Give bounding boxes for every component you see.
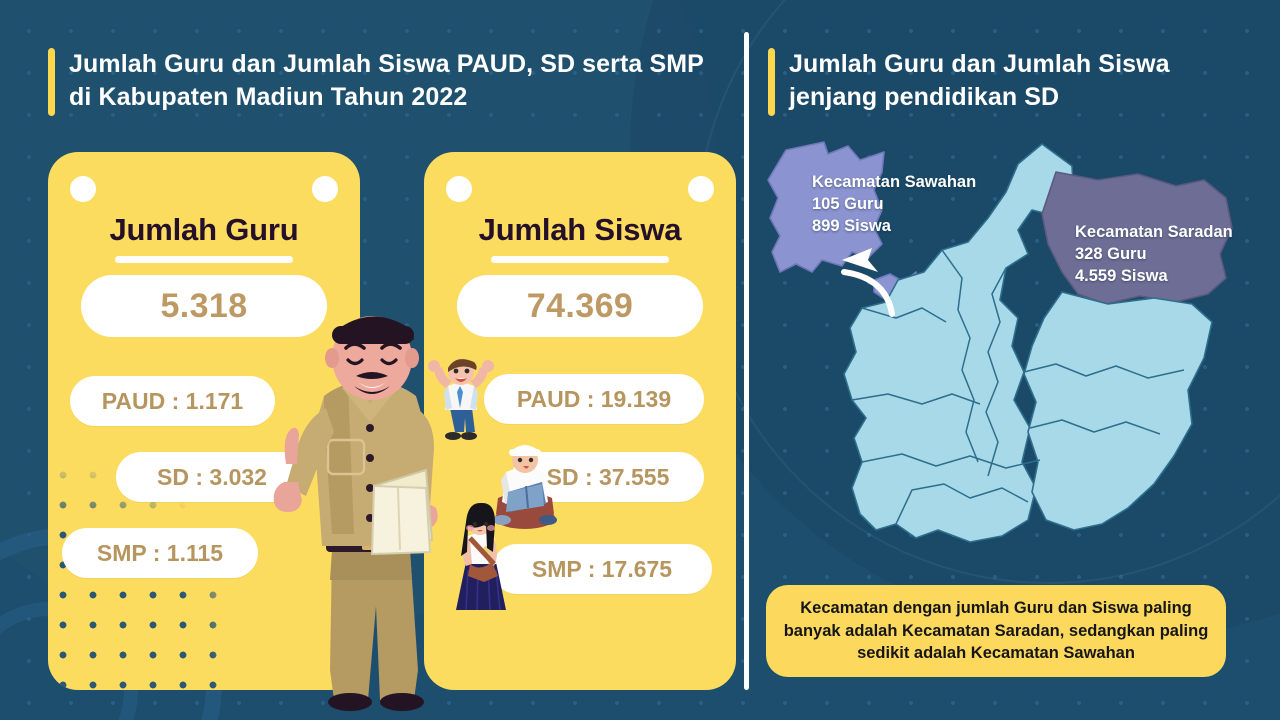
- card-guru-stat-smp: SMP : 1.115: [62, 528, 258, 578]
- card-siswa-total: 74.369: [457, 275, 703, 337]
- card-guru-stat-sd: SD : 3.032: [116, 452, 308, 502]
- card-siswa-stat-smp: SMP : 17.675: [492, 544, 712, 594]
- map-label-saradan-guru: 328 Guru: [1075, 244, 1233, 266]
- right-panel-header: Jumlah Guru dan Jumlah Siswa jenjang pen…: [768, 48, 1238, 116]
- map-label-saradan: Kecamatan Saradan 328 Guru 4.559 Siswa: [1075, 222, 1233, 287]
- map-label-sawahan: Kecamatan Sawahan 105 Guru 899 Siswa: [812, 172, 976, 237]
- map-label-sawahan-name: Kecamatan Sawahan: [812, 172, 976, 194]
- accent-bar-icon: [48, 48, 55, 116]
- card-siswa-rule: [491, 256, 669, 263]
- map-label-sawahan-siswa: 899 Siswa: [812, 216, 976, 238]
- map-region-southeast: [1024, 292, 1212, 530]
- map-label-saradan-siswa: 4.559 Siswa: [1075, 266, 1233, 288]
- left-panel-title: Jumlah Guru dan Jumlah Siswa PAUD, SD se…: [69, 48, 708, 113]
- card-siswa-stat-paud: PAUD : 19.139: [484, 374, 704, 424]
- left-panel-header: Jumlah Guru dan Jumlah Siswa PAUD, SD se…: [48, 48, 708, 116]
- card-guru-rule: [115, 256, 293, 263]
- punch-hole-icon: [446, 176, 472, 202]
- accent-bar-icon: [768, 48, 775, 116]
- card-guru-title: Jumlah Guru: [48, 212, 360, 248]
- card-guru-stat-paud: PAUD : 1.171: [70, 376, 275, 426]
- card-jumlah-siswa: Jumlah Siswa 74.369 PAUD : 19.139 SD : 3…: [424, 152, 736, 690]
- map-caption-box: Kecamatan dengan jumlah Guru dan Siswa p…: [766, 585, 1226, 677]
- punch-hole-icon: [312, 176, 338, 202]
- punch-hole-icon: [688, 176, 714, 202]
- punch-hole-icon: [70, 176, 96, 202]
- panel-divider: [744, 32, 749, 690]
- card-siswa-stat-sd: SD : 37.555: [512, 452, 704, 502]
- map-label-sawahan-guru: 105 Guru: [812, 194, 976, 216]
- card-siswa-title: Jumlah Siswa: [424, 212, 736, 248]
- card-guru-total: 5.318: [81, 275, 327, 337]
- card-jumlah-guru: Jumlah Guru 5.318 PAUD : 1.171 SD : 3.03…: [48, 152, 360, 690]
- map-caption-text: Kecamatan dengan jumlah Guru dan Siswa p…: [780, 597, 1212, 665]
- right-panel-title: Jumlah Guru dan Jumlah Siswa jenjang pen…: [789, 48, 1238, 113]
- infographic-canvas: Jumlah Guru dan Jumlah Siswa PAUD, SD se…: [0, 0, 1280, 720]
- map-label-saradan-name: Kecamatan Saradan: [1075, 222, 1233, 244]
